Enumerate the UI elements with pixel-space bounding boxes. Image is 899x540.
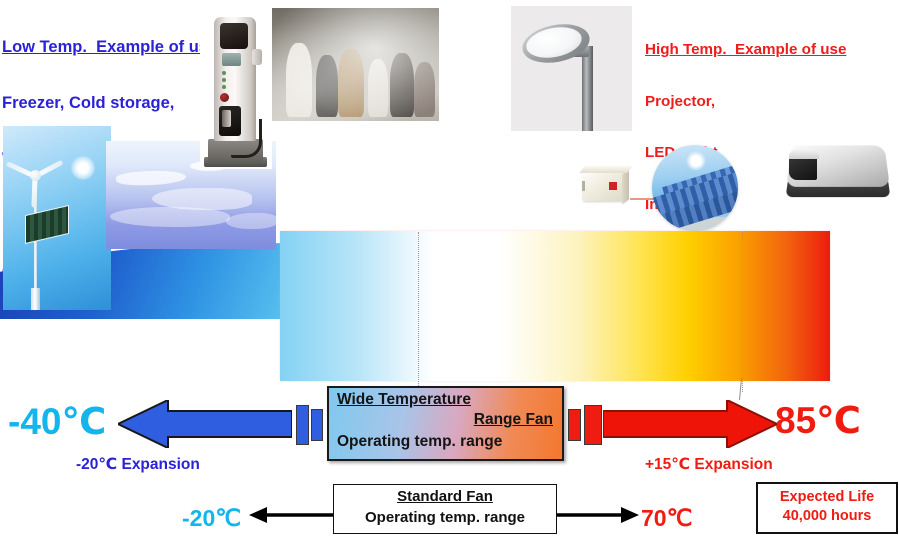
ice-form — [110, 207, 230, 227]
right-connector-block — [584, 405, 602, 445]
cold-storage-warehouse-photo — [272, 8, 439, 121]
inverter-side-panel — [622, 169, 629, 204]
standard-fan-left-arrow — [249, 503, 333, 527]
expected-life-line-2: 40,000 hours — [758, 508, 896, 524]
arrow-left-icon — [249, 503, 333, 527]
expected-life-line-1: Expected Life — [758, 489, 896, 505]
projector-lens-hood — [789, 150, 819, 159]
slide-canvas: Low Temp. Example of use Freezer, Cold s… — [0, 0, 899, 540]
high-temp-callout-line-1: Projector, — [645, 93, 846, 110]
standard-fan-box: Standard Fan Operating temp. range — [333, 484, 557, 534]
wide-fan-title-line-1: Wide Temperature — [337, 391, 471, 409]
standard-fan-title: Standard Fan — [334, 488, 556, 505]
left-connector-block — [296, 405, 309, 445]
light-pole — [582, 46, 593, 131]
inverter-top-panel — [579, 166, 632, 173]
low-temp-callout-line-1: Freezer, Cold storage, — [2, 94, 217, 113]
ice-form — [226, 213, 276, 229]
standard-fan-min-temp: -20℃ — [182, 505, 241, 532]
expected-life-box: Expected Life 40,000 hours — [756, 482, 898, 534]
left-expansion-arrow — [118, 400, 292, 448]
wide-temperature-range-fan-box: Wide Temperature Range Fan Operating tem… — [327, 386, 564, 461]
left-connector-block — [311, 409, 323, 441]
temperature-spectrum-band — [280, 231, 830, 381]
right-arrow-icon — [603, 400, 777, 448]
turbine-hub — [30, 170, 41, 181]
wide-fan-subtitle: Operating temp. range — [337, 433, 502, 451]
wide-fan-title-line-2: Range Fan — [474, 411, 553, 429]
wind-solar-streetlight-photo — [3, 126, 111, 310]
indicator-led — [222, 71, 226, 75]
projector-photo — [783, 136, 893, 214]
right-connector-block — [568, 409, 581, 441]
standard-fan-max-temp: 70℃ — [641, 505, 692, 532]
sun-glow — [71, 156, 95, 180]
solar-panel-photo — [652, 145, 738, 231]
inverter-cabinet — [582, 169, 626, 201]
wide-fan-max-temp: 85℃ — [775, 402, 861, 439]
leader-line-right — [742, 232, 743, 392]
charging-gun — [222, 110, 231, 127]
right-expansion-arrow — [603, 400, 777, 448]
emergency-stop-knob — [220, 93, 229, 102]
low-side-expansion-label: -20℃ Expansion — [76, 455, 200, 474]
arrow-right-icon — [555, 503, 639, 527]
leader-line-left — [418, 232, 419, 392]
charging-cable — [231, 119, 262, 158]
indicator-led — [222, 85, 226, 89]
indicator-led — [222, 78, 226, 82]
inverter-door-latch — [582, 181, 585, 191]
cable-holder — [252, 49, 262, 65]
solar-panel — [25, 205, 69, 244]
standard-fan-subtitle: Operating temp. range — [334, 509, 556, 526]
charger-display — [222, 53, 241, 66]
ice-form — [116, 169, 187, 187]
high-side-expansion-label: +15℃ Expansion — [645, 455, 773, 474]
charger-top-panel — [220, 23, 248, 49]
low-temp-callout-heading: Low Temp. Example of use — [2, 38, 217, 57]
cold-fog-overlay — [272, 8, 439, 121]
inverter-cabinet-photo — [578, 165, 634, 207]
mast-base — [31, 288, 40, 310]
left-arrow-icon — [118, 400, 292, 448]
inverter-status-lamp — [609, 182, 617, 190]
wide-fan-min-temp: -40℃ — [8, 403, 106, 440]
sun-glow — [686, 151, 706, 171]
led-street-light-photo — [511, 6, 632, 131]
ev-quick-charger-photo — [200, 11, 272, 169]
high-temp-callout-heading: High Temp. Example of use — [645, 41, 846, 58]
standard-fan-title-text: Standard Fan — [397, 488, 493, 505]
standard-fan-right-arrow — [555, 503, 639, 527]
